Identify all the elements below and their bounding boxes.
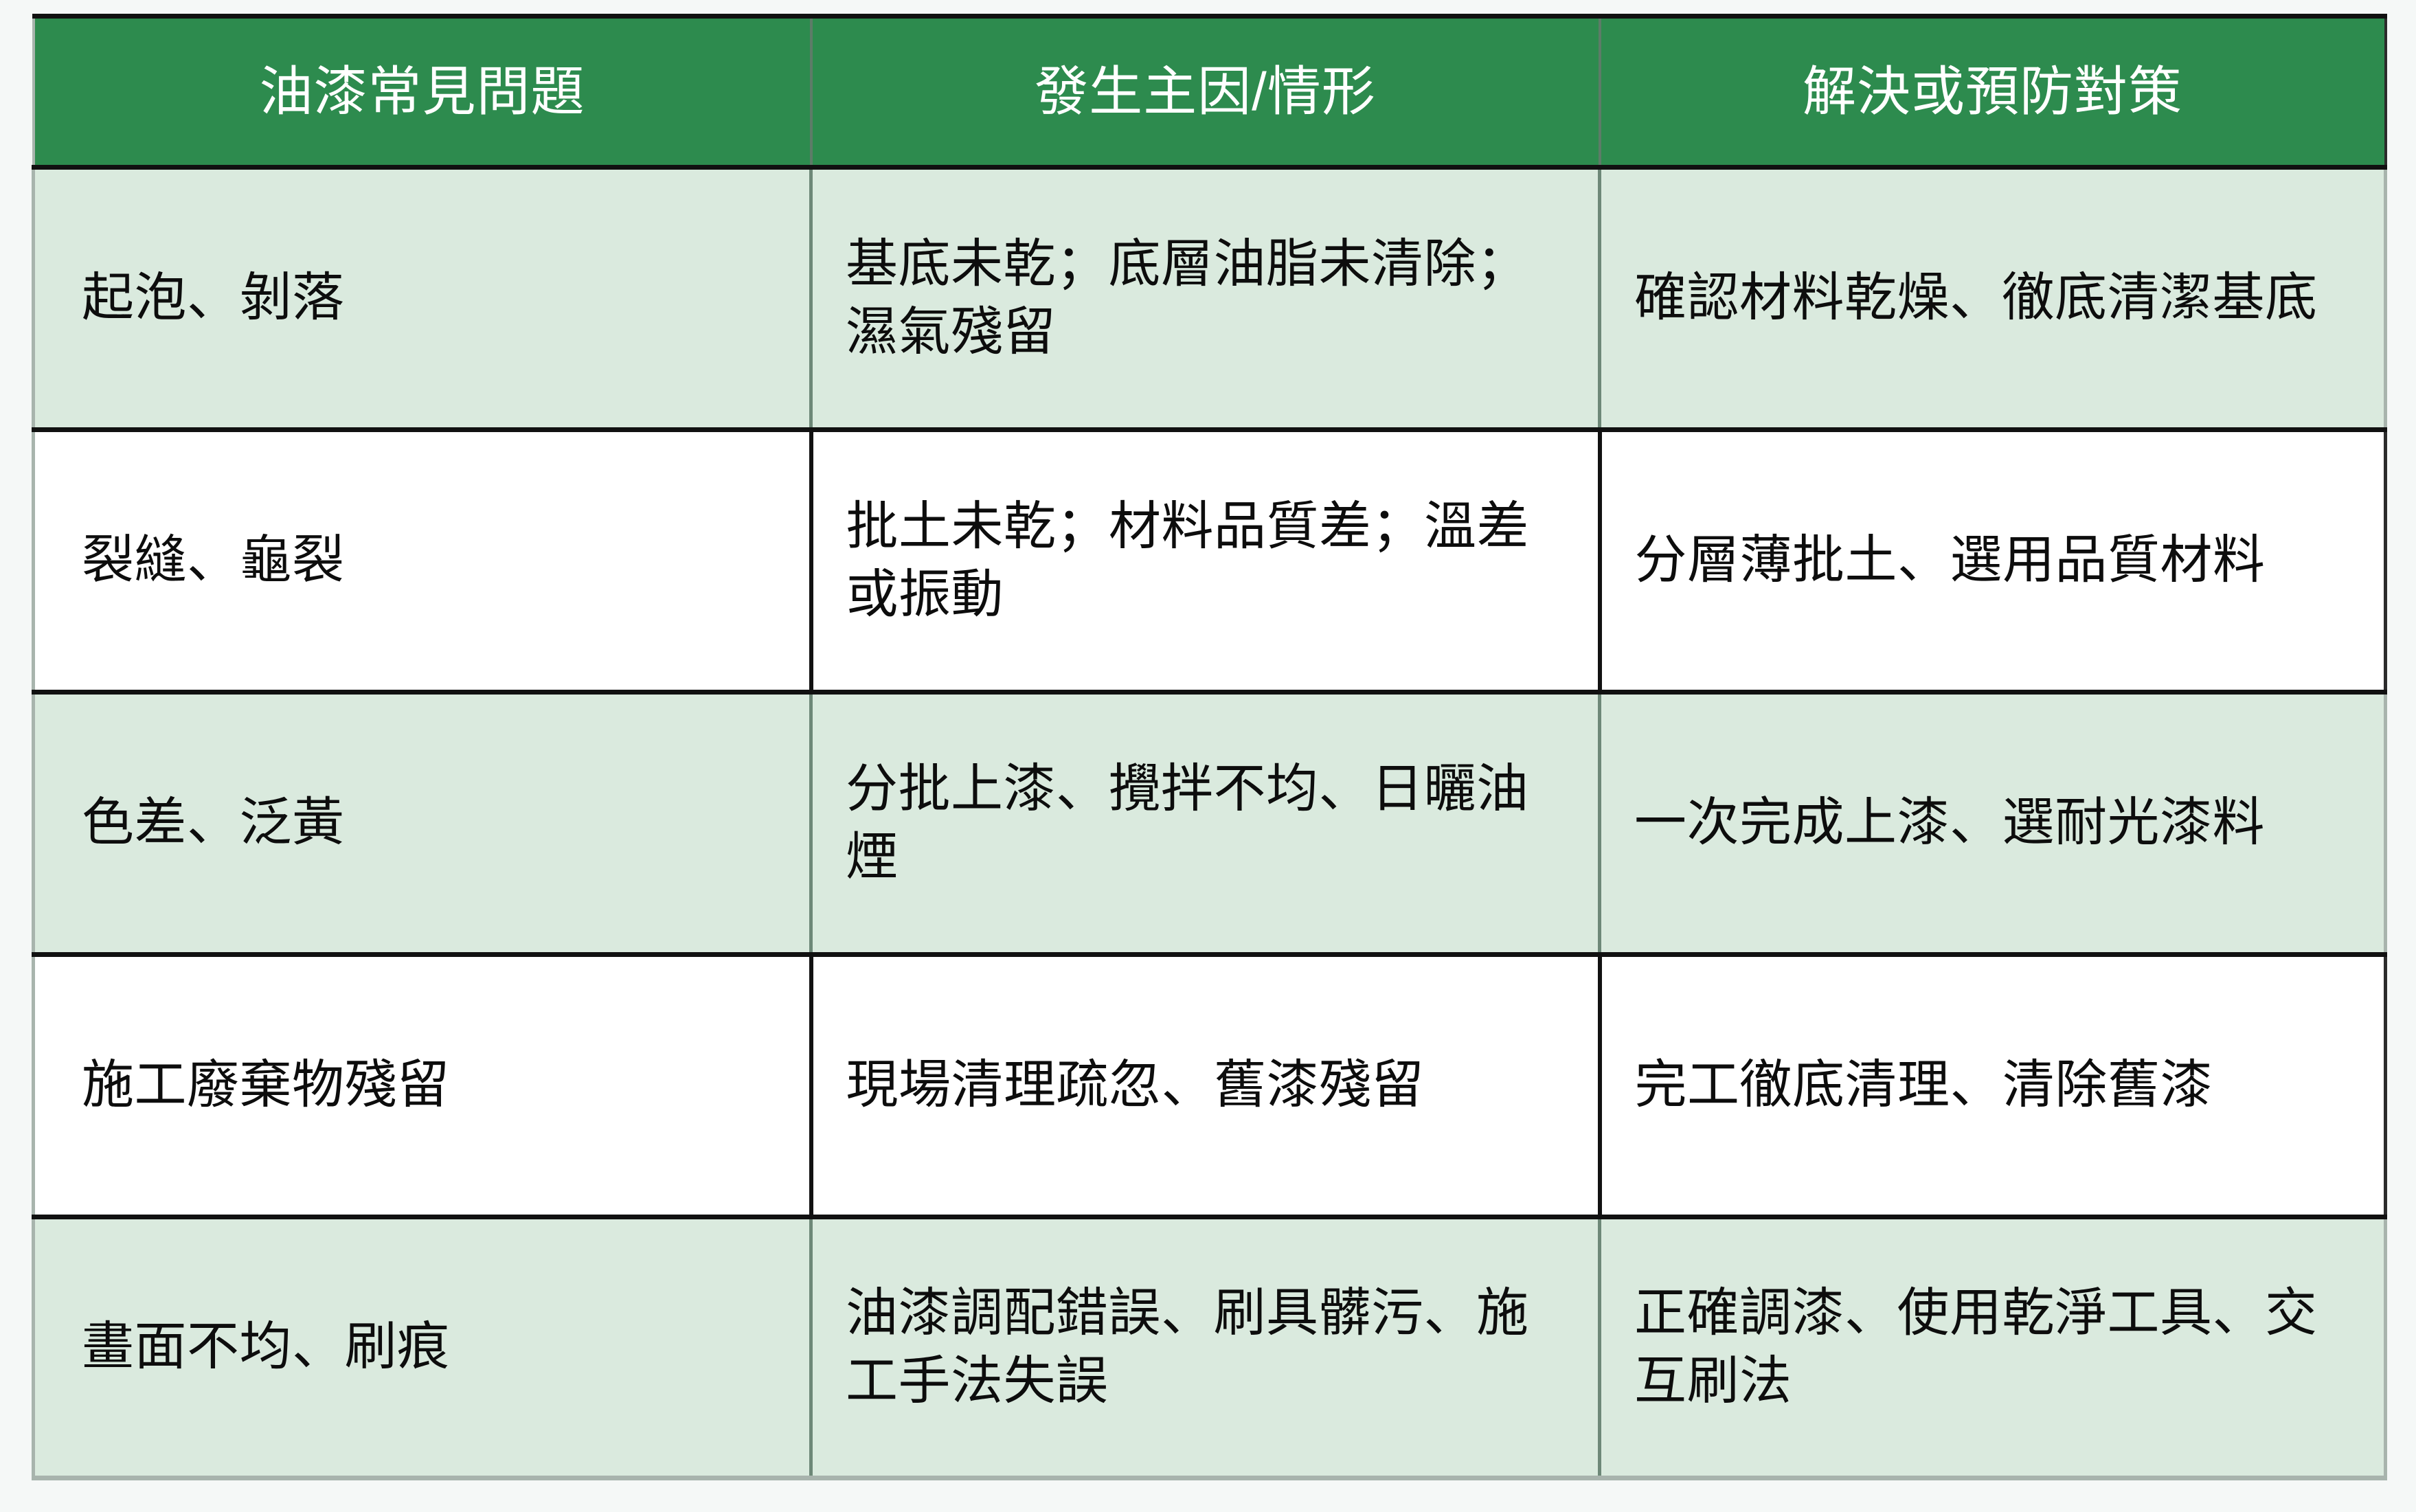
table-header-row: 油漆常見問題 發生主因/情形 解決或預防對策 (34, 16, 2386, 168)
paint-issues-table: 油漆常見問題 發生主因/情形 解決或預防對策 起泡、剝落 基底未乾；底層油脂未清… (32, 14, 2387, 1480)
table-row: 起泡、剝落 基底未乾；底層油脂未清除；濕氣殘留 確認材料乾燥、徹底清潔基底 (34, 168, 2386, 430)
cell-problem: 施工廢棄物殘留 (34, 955, 811, 1217)
cell-problem: 裂縫、龜裂 (34, 430, 811, 692)
cell-cause: 油漆調配錯誤、刷具髒污、施工手法失誤 (811, 1217, 1600, 1478)
cell-solution: 正確調漆、使用乾淨工具、交互刷法 (1600, 1217, 2386, 1478)
cell-solution: 確認材料乾燥、徹底清潔基底 (1600, 168, 2386, 430)
cell-solution: 完工徹底清理、清除舊漆 (1600, 955, 2386, 1217)
cell-cause: 批土未乾；材料品質差；溫差或振動 (811, 430, 1600, 692)
table-header: 油漆常見問題 發生主因/情形 解決或預防對策 (34, 16, 2386, 168)
column-header-solution: 解決或預防對策 (1600, 16, 2386, 168)
cell-problem: 畫面不均、刷痕 (34, 1217, 811, 1478)
table-row: 施工廢棄物殘留 現場清理疏忽、舊漆殘留 完工徹底清理、清除舊漆 (34, 955, 2386, 1217)
column-header-cause: 發生主因/情形 (811, 16, 1600, 168)
paint-issues-table-container: 油漆常見問題 發生主因/情形 解決或預防對策 起泡、剝落 基底未乾；底層油脂未清… (32, 14, 2384, 1476)
cell-cause: 基底未乾；底層油脂未清除；濕氣殘留 (811, 168, 1600, 430)
table-row: 色差、泛黃 分批上漆、攪拌不均、日曬油煙 一次完成上漆、選耐光漆料 (34, 692, 2386, 955)
table-row: 畫面不均、刷痕 油漆調配錯誤、刷具髒污、施工手法失誤 正確調漆、使用乾淨工具、交… (34, 1217, 2386, 1478)
cell-solution: 一次完成上漆、選耐光漆料 (1600, 692, 2386, 955)
cell-solution: 分層薄批土、選用品質材料 (1600, 430, 2386, 692)
cell-cause: 分批上漆、攪拌不均、日曬油煙 (811, 692, 1600, 955)
cell-problem: 起泡、剝落 (34, 168, 811, 430)
table-row: 裂縫、龜裂 批土未乾；材料品質差；溫差或振動 分層薄批土、選用品質材料 (34, 430, 2386, 692)
cell-problem: 色差、泛黃 (34, 692, 811, 955)
table-body: 起泡、剝落 基底未乾；底層油脂未清除；濕氣殘留 確認材料乾燥、徹底清潔基底 裂縫… (34, 168, 2386, 1478)
cell-cause: 現場清理疏忽、舊漆殘留 (811, 955, 1600, 1217)
column-header-problem: 油漆常見問題 (34, 16, 811, 168)
